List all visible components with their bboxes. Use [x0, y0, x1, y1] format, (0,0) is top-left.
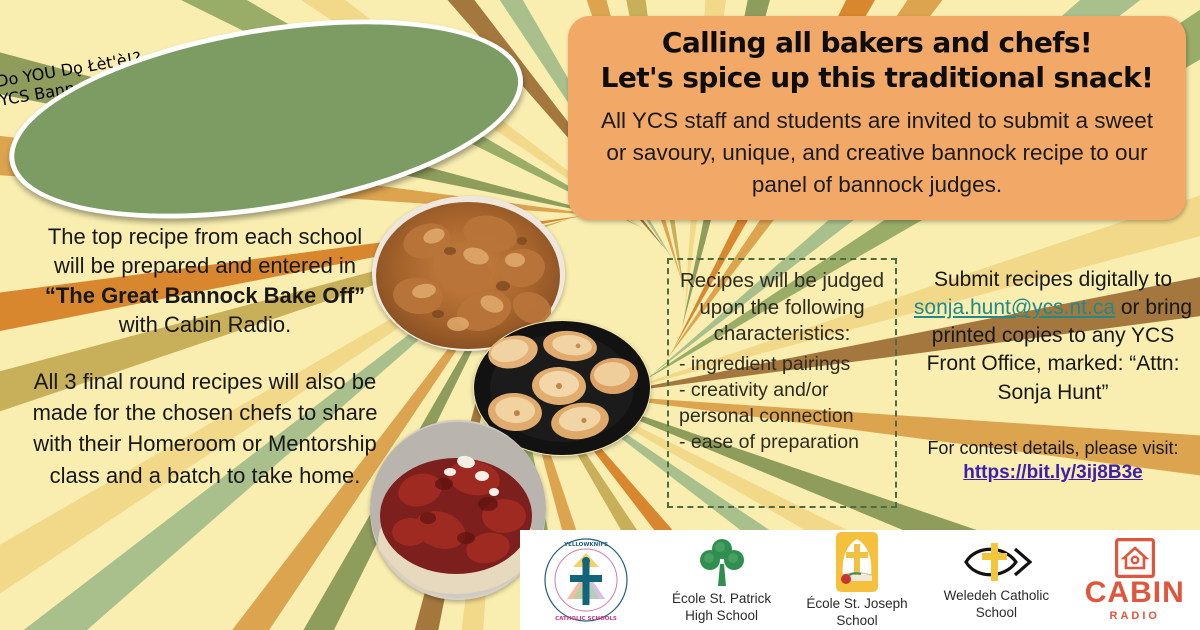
- callout-heading-line2: Let's spice up this traditional snack!: [590, 61, 1164, 96]
- cabin-radio-subword: RADIO: [1110, 610, 1160, 622]
- logo-cabin-radio: CABIN RADIO: [1080, 538, 1190, 622]
- st-joseph-crest-icon: [835, 531, 879, 593]
- callout-body-text: All YCS staff and students are invited t…: [590, 105, 1164, 201]
- left-paragraph1-part1: The top recipe from each school will be …: [30, 222, 380, 281]
- criteria-heading: Recipes will be judged upon the followin…: [675, 268, 889, 348]
- logo-yellowknife-catholic-schools: YELLOWKNIFE CATHOLIC SCHOOLS: [530, 537, 642, 623]
- cabin-house-icon: [1115, 538, 1155, 578]
- poster-canvas: Do YOU Dǫ Łèt'è!? YCS Bannock Contest! C…: [0, 0, 1200, 630]
- logo-caption-st-patrick: École St. Patrick High School: [663, 591, 781, 623]
- sponsor-logo-bar: YELLOWKNIFE CATHOLIC SCHOOLS École St. P…: [520, 530, 1200, 630]
- submission-info-column: Submit recipes digitally to sonja.hunt@y…: [912, 266, 1194, 484]
- svg-text:YELLOWKNIFE: YELLOWKNIFE: [563, 542, 608, 548]
- judging-criteria-box: Recipes will be judged upon the followin…: [667, 258, 897, 508]
- logo-weledeh-catholic-school: Weledeh Catholic School: [933, 539, 1059, 620]
- left-paragraph2: All 3 final round recipes will also be m…: [30, 366, 380, 491]
- callout-panel: Calling all bakers and chefs! Let's spic…: [568, 16, 1186, 220]
- submit-instructions: Submit recipes digitally to sonja.hunt@y…: [912, 266, 1194, 407]
- criteria-item-2: - creativity and/or personal connection: [675, 378, 889, 430]
- svg-text:CATHOLIC SCHOOLS: CATHOLIC SCHOOLS: [555, 616, 617, 622]
- cabin-radio-wordmark: CABIN: [1085, 578, 1185, 608]
- ichthys-cross-icon: [960, 539, 1032, 585]
- shamrock-icon: [696, 536, 748, 588]
- criteria-item-3: - ease of preparation: [675, 430, 889, 456]
- bake-off-quote: “The Great Bannock Bake Off”: [30, 281, 380, 310]
- logo-ecole-st-joseph-school: École St. Joseph School: [801, 531, 913, 628]
- logo-caption-weledeh: Weledeh Catholic School: [933, 588, 1059, 620]
- logo-ecole-st-patrick-high-school: École St. Patrick High School: [663, 536, 781, 623]
- email-link[interactable]: sonja.hunt@ycs.nt.ca: [914, 296, 1115, 319]
- submit-lead-text: Submit recipes digitally to: [934, 268, 1172, 291]
- contest-details-label: For contest details, please visit:: [912, 437, 1194, 460]
- left-info-column: The top recipe from each school will be …: [30, 222, 380, 491]
- criteria-list: - ingredient pairings - creativity and/o…: [675, 352, 889, 456]
- logo-caption-st-joseph: École St. Joseph School: [801, 596, 913, 628]
- contest-details-link[interactable]: https://bit.ly/3ij8B3e: [912, 462, 1194, 484]
- ycs-crest-icon: YELLOWKNIFE CATHOLIC SCHOOLS: [543, 537, 629, 623]
- callout-heading-line1: Calling all bakers and chefs!: [590, 26, 1164, 61]
- left-paragraph1-part2: with Cabin Radio.: [30, 310, 380, 339]
- criteria-item-1: - ingredient pairings: [675, 352, 889, 378]
